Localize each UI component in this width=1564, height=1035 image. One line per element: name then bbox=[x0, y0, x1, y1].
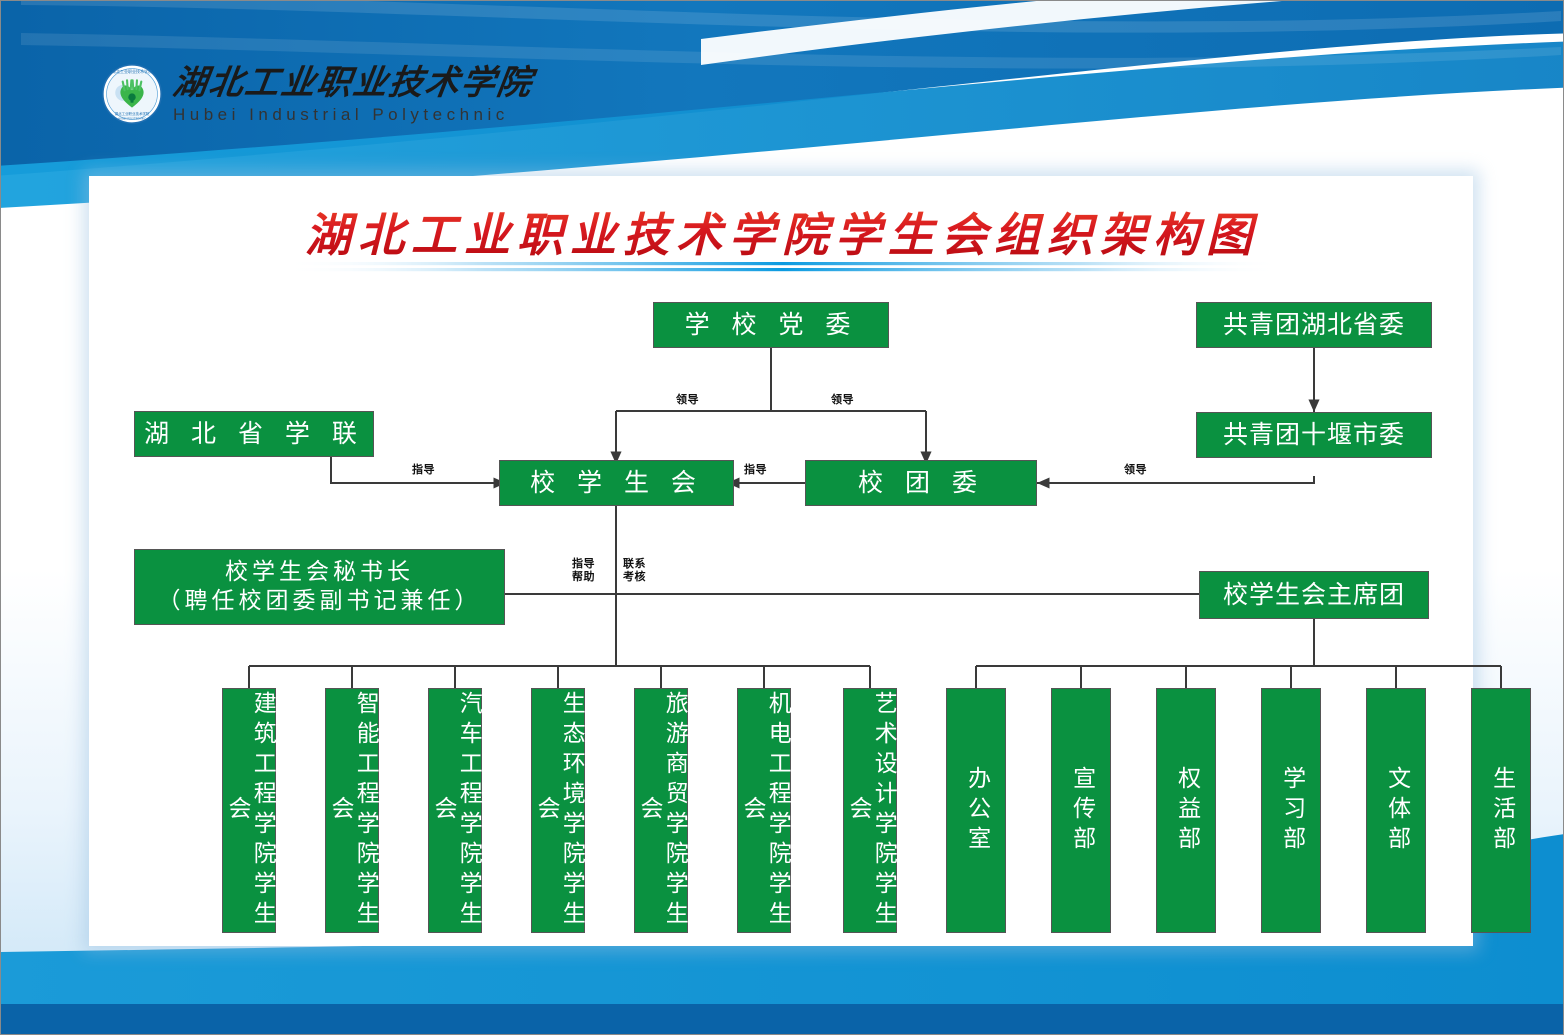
edge-label-lead-right: 领导 bbox=[831, 394, 854, 407]
node-school-league-committee[interactable]: 校 团 委 bbox=[805, 460, 1037, 506]
edge-label-lead-left: 领导 bbox=[676, 394, 699, 407]
edge-label-lead-city: 领导 bbox=[1124, 464, 1147, 477]
node-department[interactable]: 宣传部 bbox=[1051, 688, 1111, 933]
secretary-general-line2: （聘任校团委副书记兼任） bbox=[158, 587, 482, 616]
node-city-league-committee[interactable]: 共青团十堰市委 bbox=[1196, 412, 1432, 458]
node-department[interactable]: 办公室 bbox=[946, 688, 1006, 933]
node-college-union[interactable]: 建筑工程学院学生会 bbox=[222, 688, 276, 933]
svg-text:湖北工业职业技术学院: 湖北工业职业技术学院 bbox=[112, 68, 152, 74]
secretary-general-line1: 校学生会秘书长 bbox=[225, 558, 414, 587]
school-name-cn: 湖北工业职业技术学院 bbox=[171, 66, 536, 100]
node-secretary-general[interactable]: 校学生会秘书长 （聘任校团委副书记兼任） bbox=[134, 549, 505, 625]
node-department[interactable]: 权益部 bbox=[1156, 688, 1216, 933]
org-chart: 领导 领导 领导 指导 指导 指导 帮助 联系 考核 学 校 党 委 共青团湖北… bbox=[89, 176, 1473, 946]
node-college-union[interactable]: 生态环境学院学生会 bbox=[531, 688, 585, 933]
svg-text:HUBEI POLYTECHNIC: HUBEI POLYTECHNIC bbox=[118, 116, 146, 120]
svg-text:湖北工业职业技术学院: 湖北工业职业技术学院 bbox=[115, 111, 150, 116]
node-college-union[interactable]: 旅游商贸学院学生会 bbox=[634, 688, 688, 933]
edge-label-contact-assess: 联系 考核 bbox=[623, 558, 646, 583]
node-college-union[interactable]: 智能工程学院学生会 bbox=[325, 688, 379, 933]
node-college-union[interactable]: 汽车工程学院学生会 bbox=[428, 688, 482, 933]
node-school-party-committee[interactable]: 学 校 党 委 bbox=[653, 302, 889, 348]
node-department[interactable]: 学习部 bbox=[1261, 688, 1321, 933]
node-school-student-union[interactable]: 校 学 生 会 bbox=[499, 460, 734, 506]
node-department[interactable]: 文体部 bbox=[1366, 688, 1426, 933]
brand-header: 湖北工业职业技术学院 湖北工业职业技术学院 HUBEI POLYTECHNIC … bbox=[101, 63, 533, 125]
node-college-union[interactable]: 机电工程学院学生会 bbox=[737, 688, 791, 933]
node-presidium[interactable]: 校学生会主席团 bbox=[1199, 571, 1429, 619]
edge-label-guide-federation: 指导 bbox=[412, 464, 435, 477]
header-secondary-swoosh-icon bbox=[701, 0, 1564, 161]
school-emblem-icon: 湖北工业职业技术学院 湖北工业职业技术学院 HUBEI POLYTECHNIC bbox=[101, 63, 163, 125]
node-provincial-student-federation[interactable]: 湖 北 省 学 联 bbox=[134, 411, 374, 457]
school-name-en: Hubei Industrial Polytechnic bbox=[173, 106, 533, 123]
edge-label-guide-league: 指导 bbox=[744, 464, 767, 477]
poster-page: 湖北工业职业技术学院 湖北工业职业技术学院 HUBEI POLYTECHNIC … bbox=[0, 0, 1564, 1035]
edge-label-guide-help: 指导 帮助 bbox=[572, 558, 595, 583]
node-college-union[interactable]: 艺术设计学院学生会 bbox=[843, 688, 897, 933]
node-provincial-league-committee[interactable]: 共青团湖北省委 bbox=[1196, 302, 1432, 348]
node-department[interactable]: 生活部 bbox=[1471, 688, 1531, 933]
